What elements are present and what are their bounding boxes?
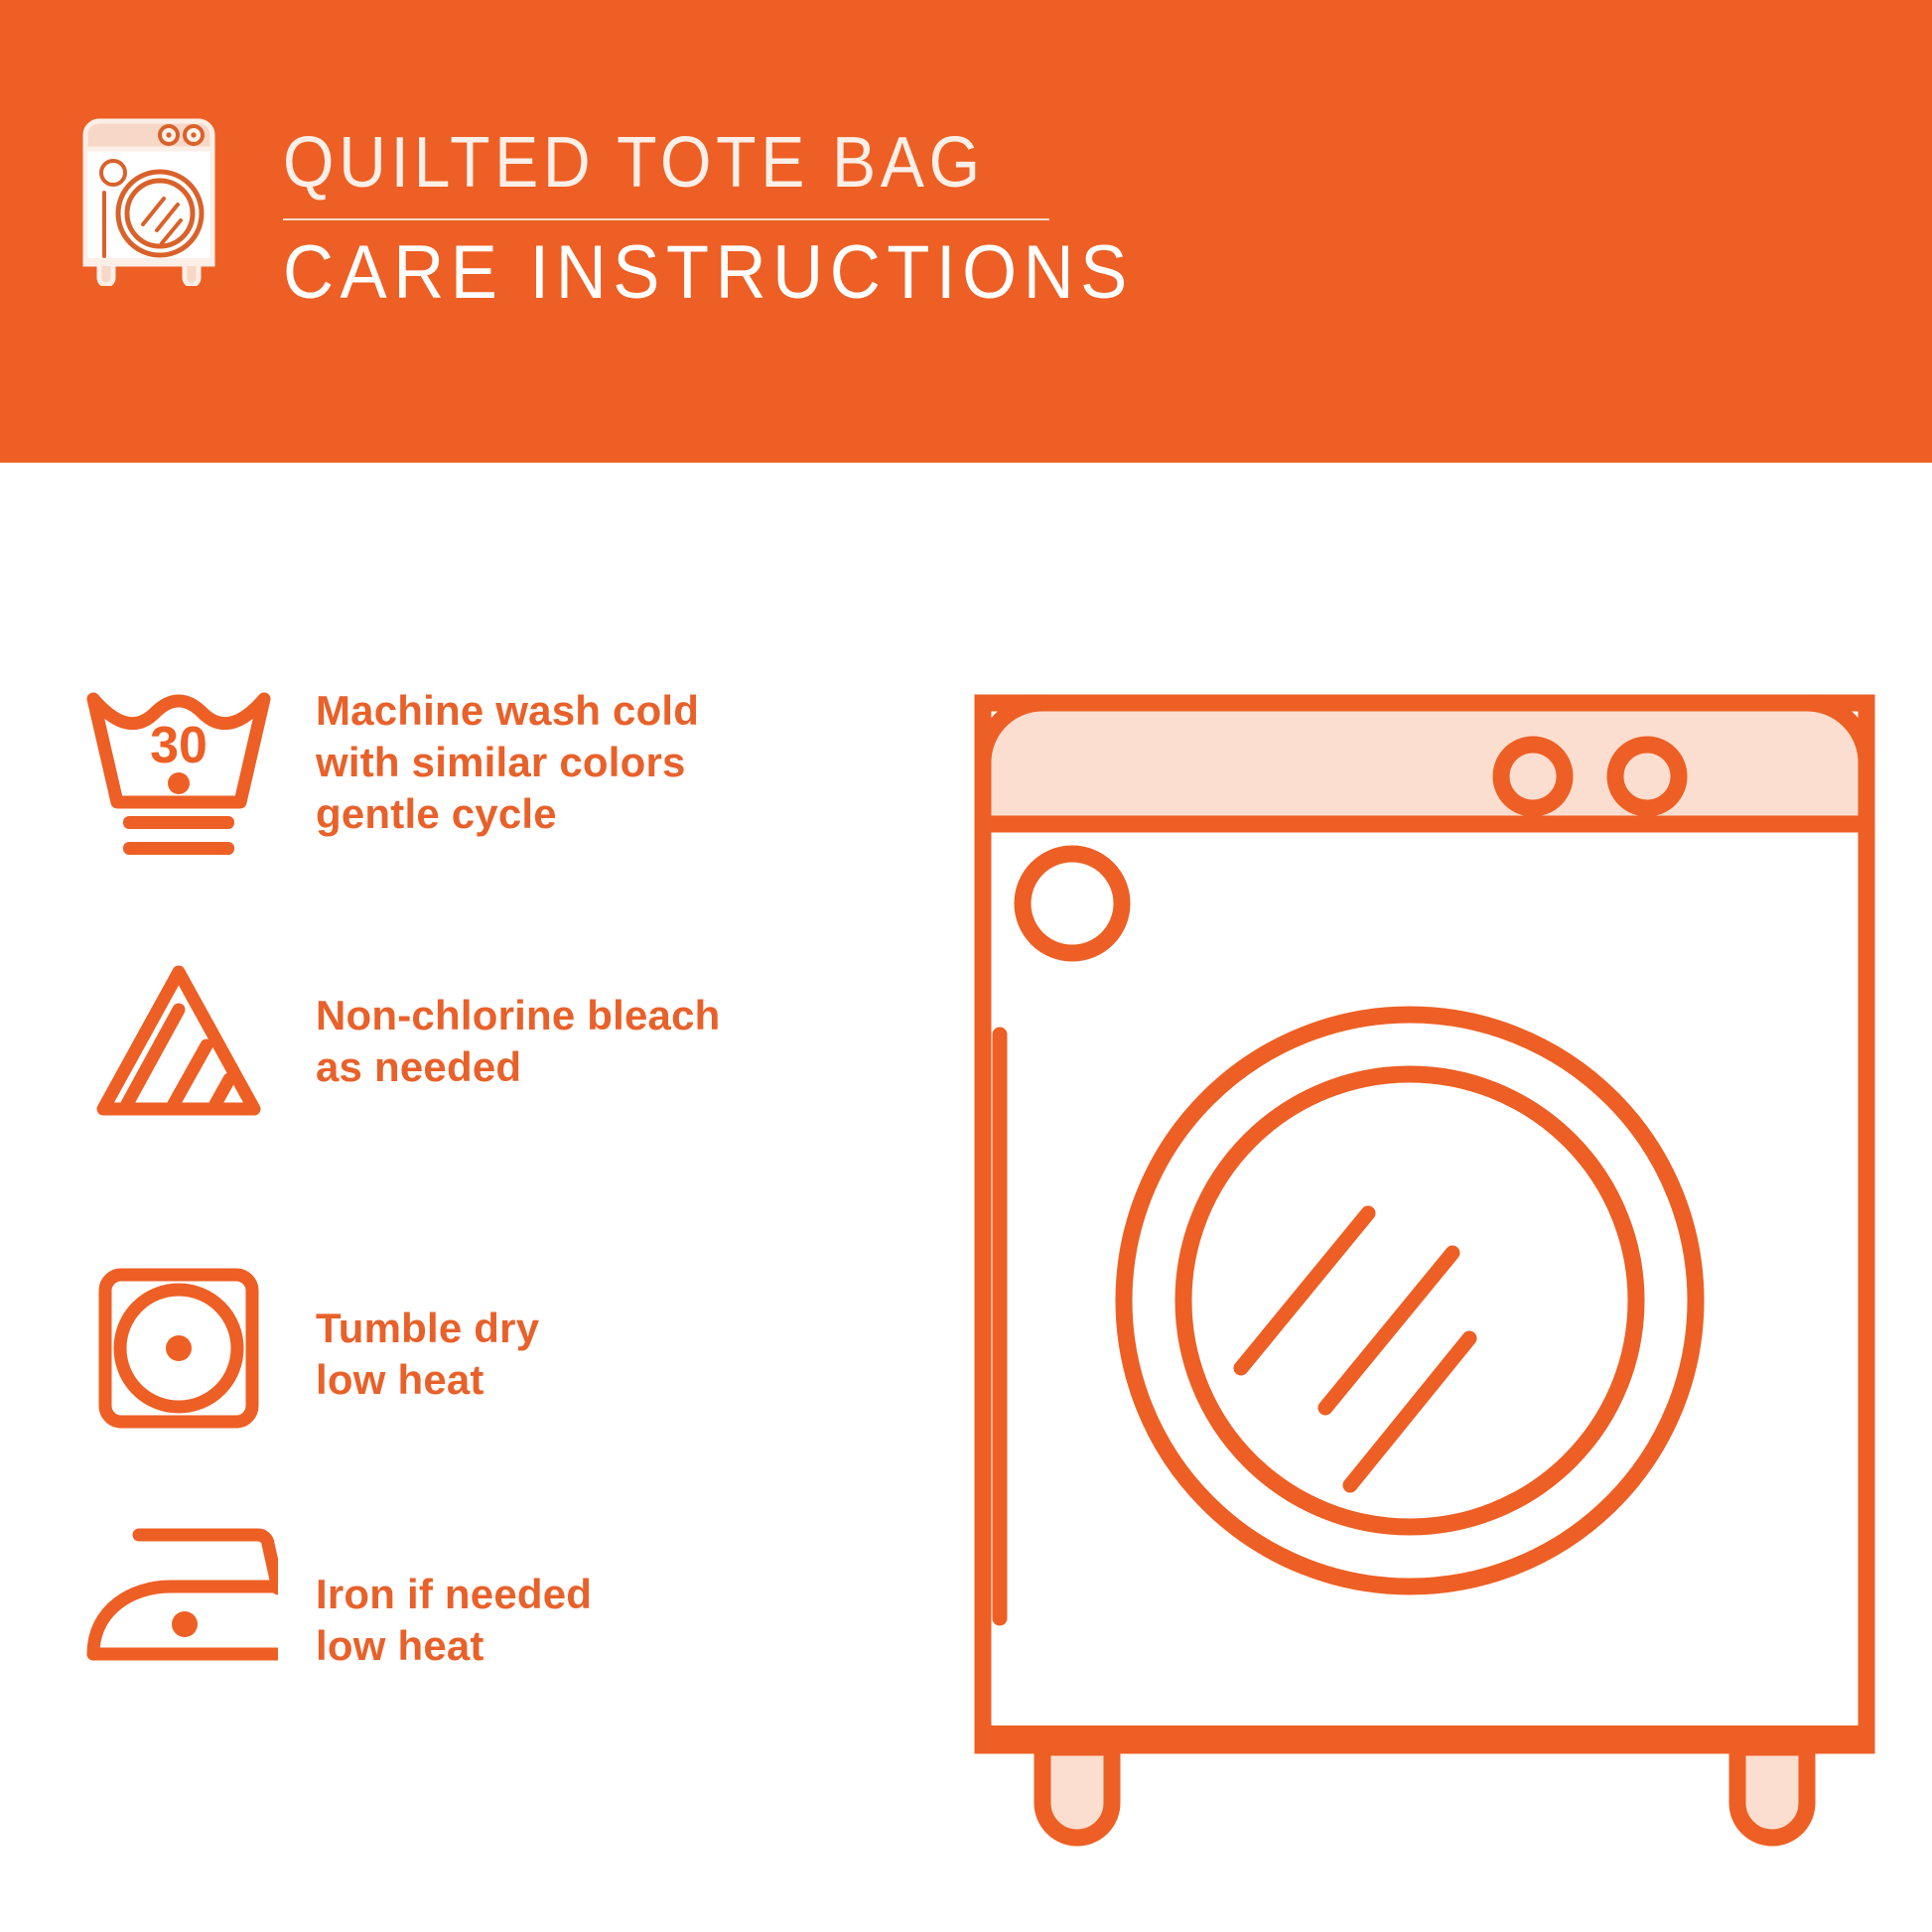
care-item-iron: Iron if needed low heat bbox=[79, 1519, 903, 1678]
knob-left bbox=[1501, 745, 1565, 808]
care-line: low heat bbox=[316, 1620, 592, 1672]
wash-tub-30-gentle-icon: 30 bbox=[79, 685, 288, 869]
tumble-dry-low-icon bbox=[79, 1261, 288, 1435]
care-line: gentle cycle bbox=[316, 788, 699, 840]
leg-right bbox=[1737, 1747, 1807, 1838]
care-item-bleach: Non-chlorine bleach as needed bbox=[79, 958, 903, 1127]
care-item-label: Non-chlorine bleach as needed bbox=[288, 958, 721, 1093]
wash-temperature-label: 30 bbox=[150, 717, 207, 774]
care-line: Tumble dry bbox=[316, 1303, 539, 1354]
title-divider bbox=[283, 218, 1049, 220]
care-item-label: Iron if needed low heat bbox=[288, 1519, 592, 1672]
leg-left bbox=[1042, 1747, 1112, 1838]
care-line: low heat bbox=[316, 1354, 539, 1406]
iron-low-heat-icon bbox=[79, 1519, 288, 1678]
header-title-block: QUILTED TOTE BAG CARE INSTRUCTIONS bbox=[283, 123, 1067, 316]
care-line: Machine wash cold bbox=[316, 685, 699, 737]
control-panel bbox=[983, 703, 1866, 824]
knob-right bbox=[1615, 745, 1679, 808]
page-subtitle: CARE INSTRUCTIONS bbox=[283, 230, 1013, 316]
care-line: Non-chlorine bleach bbox=[316, 990, 721, 1041]
header-banner: QUILTED TOTE BAG CARE INSTRUCTIONS bbox=[0, 0, 1932, 463]
care-item-label: Tumble dry low heat bbox=[288, 1261, 539, 1406]
non-chlorine-bleach-triangle-icon bbox=[79, 958, 288, 1127]
washing-machine-illustration bbox=[953, 625, 1896, 1866]
care-line: as needed bbox=[316, 1041, 721, 1093]
care-line: with similar colors bbox=[316, 737, 699, 788]
care-item-machine-wash: 30 Machine wash cold with similar colors… bbox=[79, 685, 903, 869]
care-item-tumble-dry: Tumble dry low heat bbox=[79, 1261, 903, 1435]
washing-machine-icon bbox=[73, 117, 224, 286]
page-title: QUILTED TOTE BAG bbox=[283, 123, 1005, 203]
care-item-label: Machine wash cold with similar colors ge… bbox=[288, 685, 699, 840]
care-line: Iron if needed bbox=[316, 1569, 592, 1620]
